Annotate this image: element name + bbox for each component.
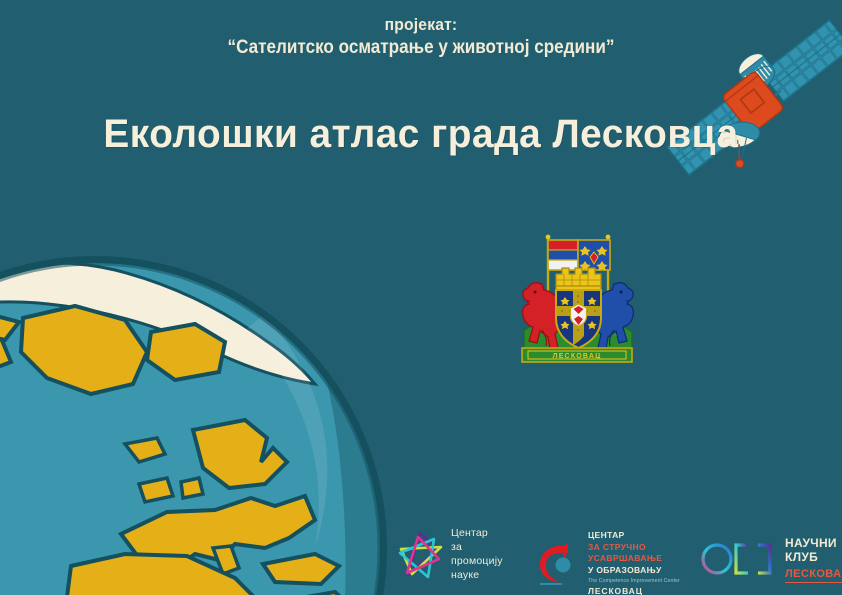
nk-city: ЛЕСКОВАЦ [785,568,842,581]
page-title: Еколошки атлас града Лесковца [13,112,830,157]
cpn-line-2: за [451,541,503,555]
science-club-icon [700,539,778,579]
csu-line-4: У ОБРАЗОВАЊУ [588,565,680,577]
logo-science-club-leskovac[interactable]: НАУЧНИ КЛУБ ЛЕСКОВАЦ [700,536,842,582]
cpn-line-3: промоцију [451,555,503,569]
csu-subtitle: The Competence Improvement Center [588,578,680,585]
nk-line-2: КЛУБ [785,550,842,564]
csu-line-2: ЗА СТРУЧНО [588,542,680,554]
satellite-illustration [663,0,842,211]
cpn-star-icon [398,529,444,581]
science-club-wordmark: НАУЧНИ КЛУБ ЛЕСКОВАЦ [785,536,842,582]
logo-center-for-promotion-of-science[interactable]: Центар за промоцију науке [398,527,503,582]
logo-center-for-professional-development[interactable]: ЦЕНТАР ЗА СТРУЧНО УСАВРШАВАЊЕ У ОБРАЗОВА… [534,530,680,595]
nk-line-1: НАУЧНИ [785,536,842,550]
csu-line-1: ЦЕНТАР [588,530,680,542]
csu-line-3: УСАВРШАВАЊЕ [588,553,680,565]
leskovac-coat-of-arms: ЛЕСКОВАЦ [512,226,642,368]
cpn-wordmark: Центар за промоцију науке [451,527,503,582]
globe-illustration [0,248,395,595]
csu-swoosh-icon [534,537,582,589]
cover-page: пројекат: “Сателитско осматрање у животн… [0,0,842,595]
cpn-line-4: науке [451,569,503,583]
cpn-line-1: Центар [451,527,503,541]
csu-city: ЛЕСКОВАЦ [588,586,680,595]
csu-wordmark: ЦЕНТАР ЗА СТРУЧНО УСАВРШАВАЊЕ У ОБРАЗОВА… [588,530,680,595]
coa-city-banner: ЛЕСКОВАЦ [553,353,602,360]
